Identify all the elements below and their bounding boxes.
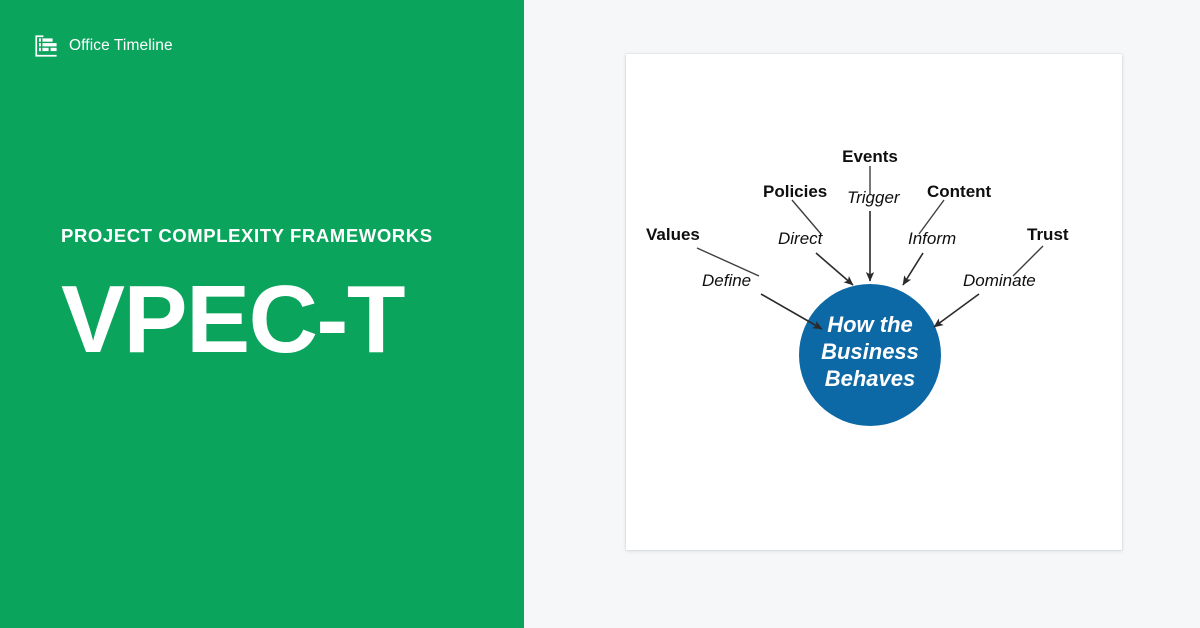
node-label-values: Values — [646, 225, 700, 244]
branch-content: Content Inform — [903, 182, 992, 285]
gantt-chart-icon — [34, 34, 58, 58]
arrow-define — [761, 294, 822, 329]
arrow-direct — [816, 253, 853, 285]
node-label-content: Content — [927, 182, 992, 201]
title-panel: Office Timeline PROJECT COMPLEXITY FRAME… — [0, 0, 524, 628]
arrow-inform — [903, 253, 923, 285]
verb-label-trigger: Trigger — [847, 188, 901, 207]
branch-events: Events Trigger — [842, 147, 901, 281]
vpect-diagram: How the Business Behaves Values Define P… — [626, 54, 1122, 550]
verb-label-define: Define — [702, 271, 751, 290]
node-label-trust: Trust — [1027, 225, 1069, 244]
branch-policies: Policies Direct — [763, 182, 853, 285]
verb-label-direct: Direct — [778, 229, 824, 248]
diagram-card: How the Business Behaves Values Define P… — [626, 54, 1122, 550]
hub-line-2: Business — [821, 339, 919, 364]
hub-line-1: How the — [827, 312, 913, 337]
arrow-dominate — [934, 294, 979, 327]
verb-label-dominate: Dominate — [963, 271, 1036, 290]
kicker-text: PROJECT COMPLEXITY FRAMEWORKS — [61, 225, 433, 247]
node-label-events: Events — [842, 147, 898, 166]
node-label-policies: Policies — [763, 182, 827, 201]
verb-label-inform: Inform — [908, 229, 956, 248]
hub-line-3: Behaves — [825, 366, 916, 391]
slide-canvas: Office Timeline PROJECT COMPLEXITY FRAME… — [0, 0, 1200, 628]
brand-name: Office Timeline — [69, 38, 173, 54]
brand-lockup[interactable]: Office Timeline — [34, 33, 173, 59]
page-title: VPEC-T — [61, 272, 404, 368]
